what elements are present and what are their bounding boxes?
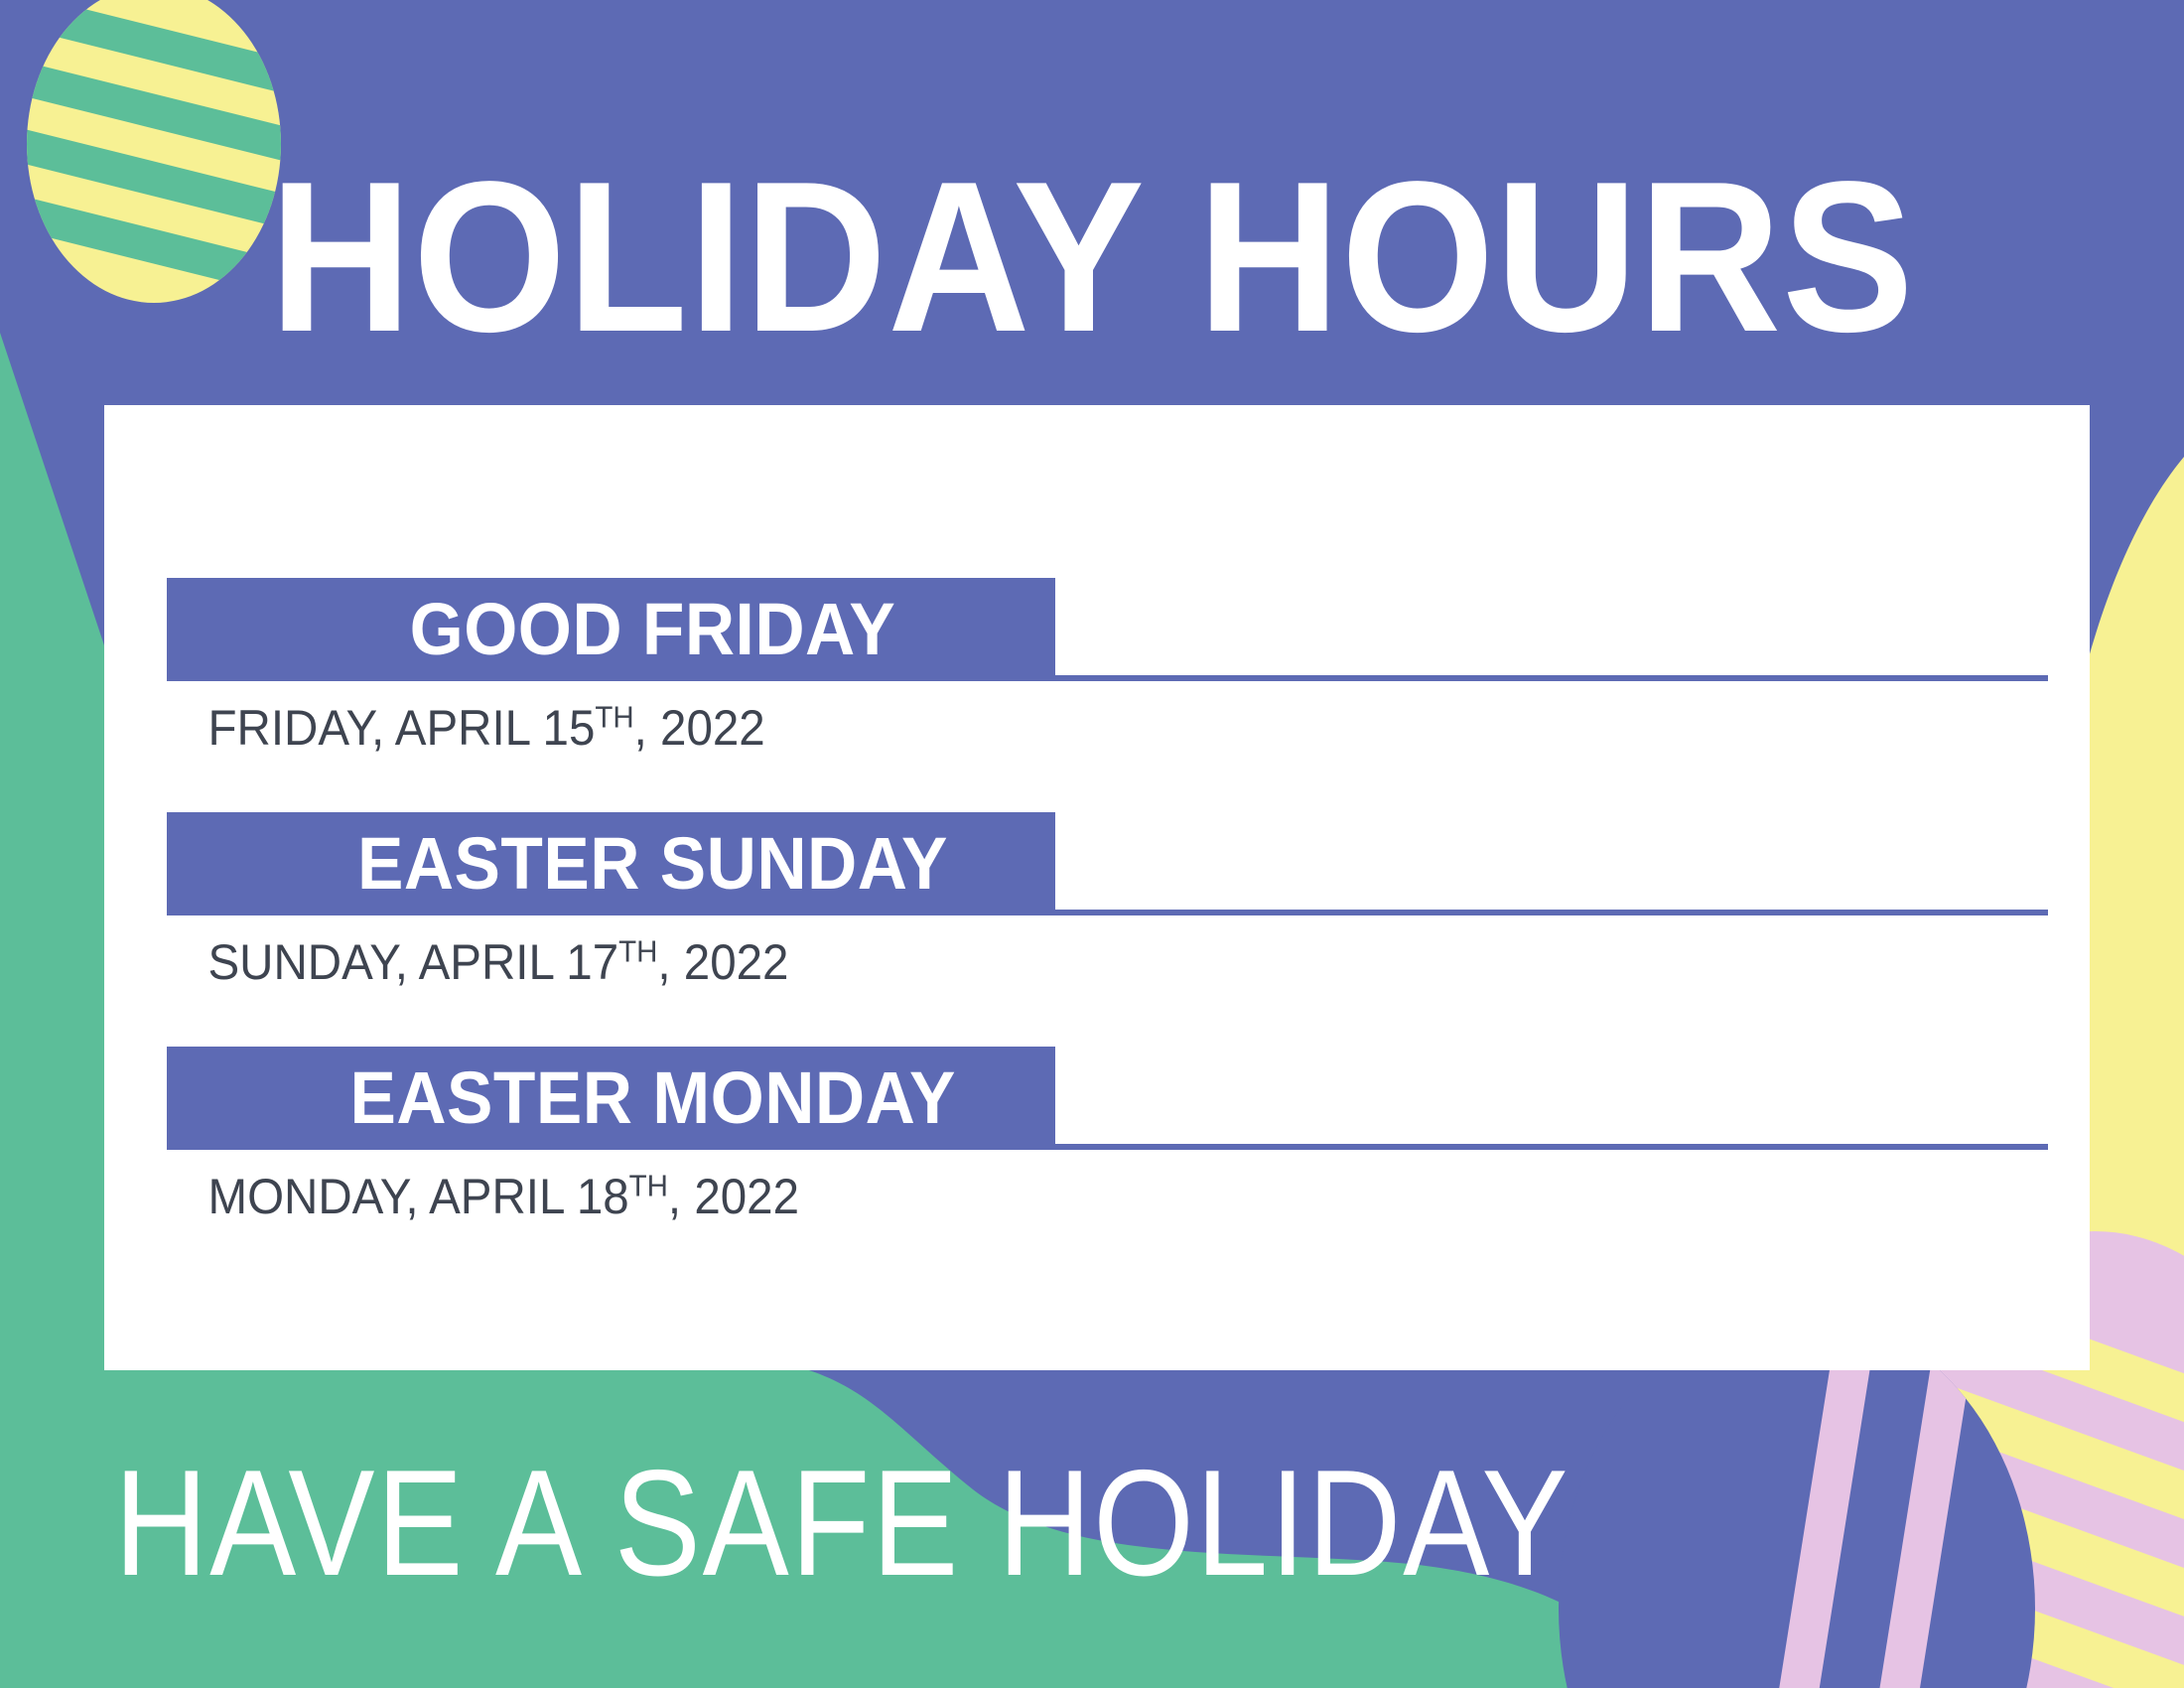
holiday-name: EASTER MONDAY: [349, 1061, 955, 1135]
holiday-date-ordinal: TH: [595, 699, 633, 734]
holiday-hours-poster: HOLIDAY HOURS GOOD FRIDAY FRIDAY, APRIL …: [0, 0, 2184, 1688]
holiday-name: EASTER SUNDAY: [357, 827, 948, 901]
holiday-date: SUNDAY, APRIL 17TH, 2022: [104, 915, 1990, 987]
holiday-date-prefix: FRIDAY, APRIL 15: [208, 700, 596, 756]
holiday-name-band: EASTER SUNDAY: [167, 812, 1055, 915]
holiday-name: GOOD FRIDAY: [410, 593, 896, 666]
holiday-date-ordinal: TH: [629, 1168, 668, 1202]
holiday-name-band: GOOD FRIDAY: [167, 578, 1055, 681]
holiday-date-tail: , 2022: [668, 1169, 799, 1224]
holiday-date-ordinal: TH: [618, 933, 657, 968]
holiday-date: FRIDAY, APRIL 15TH, 2022: [104, 681, 1990, 753]
page-title: HOLIDAY HOURS: [87, 149, 2097, 363]
holiday-date: MONDAY, APRIL 18TH, 2022: [104, 1150, 1990, 1221]
holiday-row: EASTER SUNDAY SUNDAY, APRIL 17TH, 2022: [104, 812, 2090, 987]
holiday-list: GOOD FRIDAY FRIDAY, APRIL 15TH, 2022 EAS…: [104, 405, 2090, 1221]
holiday-date-tail: , 2022: [657, 934, 788, 990]
row-spacer: [104, 753, 2090, 812]
tagline: HAVE A SAFE HOLIDAY: [114, 1448, 1570, 1599]
holiday-date-prefix: MONDAY, APRIL 18: [208, 1169, 629, 1224]
row-spacer: [104, 987, 2090, 1047]
holiday-row: GOOD FRIDAY FRIDAY, APRIL 15TH, 2022: [104, 405, 2090, 753]
holiday-date-tail: , 2022: [634, 700, 765, 756]
holiday-name-band: EASTER MONDAY: [167, 1047, 1055, 1150]
holiday-date-prefix: SUNDAY, APRIL 17: [208, 934, 619, 990]
holiday-row: EASTER MONDAY MONDAY, APRIL 18TH, 2022: [104, 1047, 2090, 1221]
